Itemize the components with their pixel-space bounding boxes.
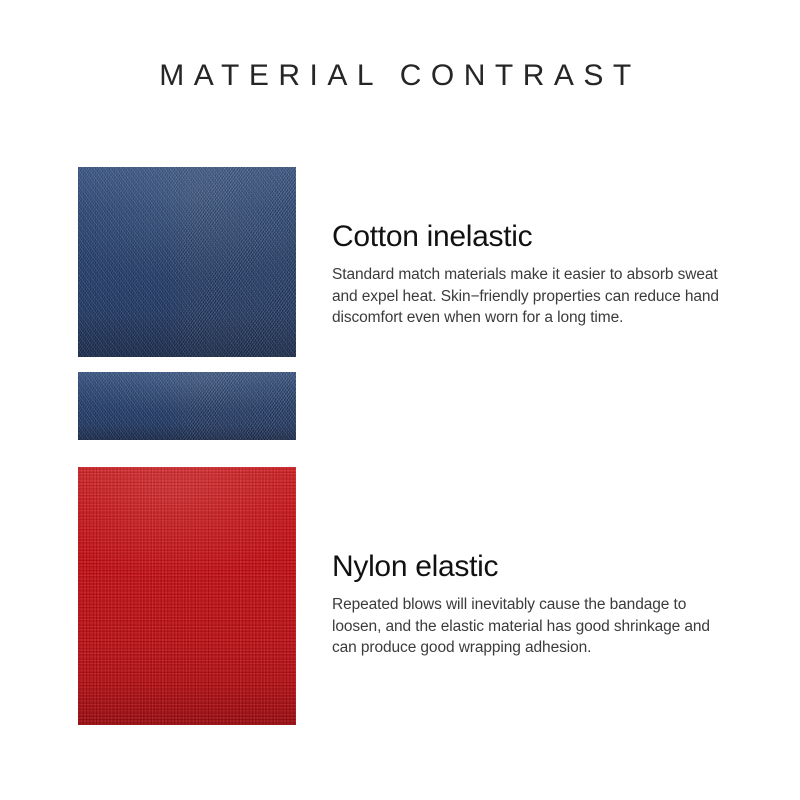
cotton-body-line-3: discomfort even when worn for a long tim…: [332, 307, 774, 329]
nylon-body: Repeated blows will inevitably cause the…: [332, 594, 774, 659]
material-contrast-page: MATERIAL CONTRAST Cotton inelastic Stand…: [0, 0, 800, 800]
cotton-body: Standard match materials make it easier …: [332, 264, 774, 329]
cotton-body-line-1: Standard match materials make it easier …: [332, 264, 774, 286]
cotton-swatch-strip: [78, 372, 296, 440]
nylon-body-line-2: loosen, and the elastic material has goo…: [332, 616, 774, 638]
nylon-heading: Nylon elastic: [332, 549, 498, 585]
page-title: MATERIAL CONTRAST: [0, 58, 800, 94]
cotton-swatch-primary: [78, 167, 296, 357]
nylon-body-line-3: can produce good wrapping adhesion.: [332, 637, 774, 659]
nylon-body-line-1: Repeated blows will inevitably cause the…: [332, 594, 774, 616]
cotton-heading: Cotton inelastic: [332, 219, 532, 255]
cotton-body-line-2: and expel heat. Skin−friendly properties…: [332, 286, 774, 308]
nylon-swatch-primary: [78, 467, 296, 725]
